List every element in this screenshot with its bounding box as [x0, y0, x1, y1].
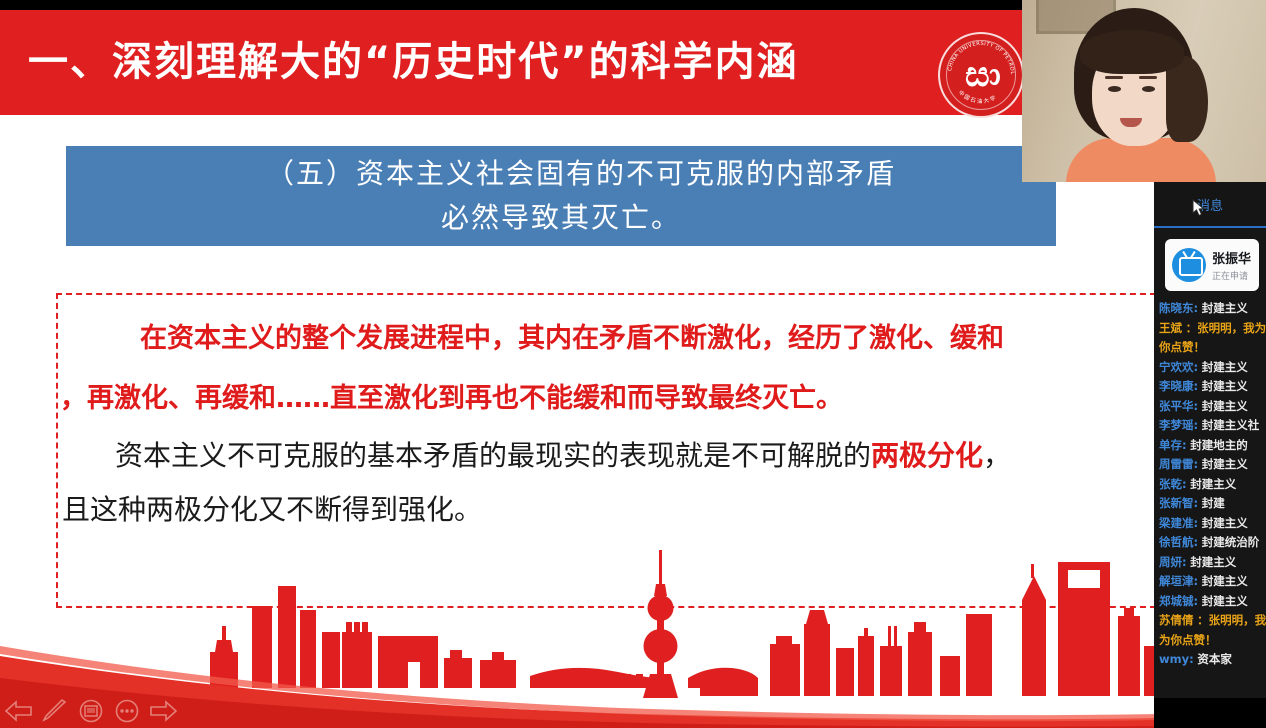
presenter-eyebrow-left — [1105, 76, 1123, 79]
join-request-notification[interactable]: 张振华 正在申请 — [1165, 239, 1259, 291]
chat-message-sender: 李梦瑶: — [1159, 418, 1198, 432]
chat-message-sender: 苏倩倩 — [1159, 613, 1194, 627]
ellipsis-icon[interactable] — [112, 698, 142, 724]
presenter-eye-right — [1142, 86, 1155, 92]
section-banner: （五）资本主义社会固有的不可克服的内部矛盾 必然导致其灭亡。 — [66, 146, 1056, 246]
chat-message-body: 封建主义 — [1202, 301, 1248, 315]
chat-message-body: 封建主义社 — [1202, 418, 1260, 432]
chat-message: wmy: 资本家 — [1159, 650, 1266, 670]
chat-message: 单存: 封建地主的 — [1159, 436, 1266, 456]
presenter-bangs — [1080, 30, 1184, 74]
chat-message-body: ：张明明，我 — [1197, 613, 1266, 627]
chat-message-sender: 张平华: — [1159, 399, 1198, 413]
chat-message-body: 封建主义 — [1202, 379, 1248, 393]
broadcast-play-triangle — [1187, 262, 1193, 270]
chat-message-body: 封建主义 — [1202, 516, 1248, 530]
chat-message-sender: 张新智: — [1159, 496, 1198, 510]
chat-message-body: 封建主义 — [1202, 594, 1248, 608]
chat-message: 李晓康: 封建主义 — [1159, 377, 1266, 397]
chat-message-sender: 宁欢欢: — [1159, 360, 1198, 374]
chat-message: 张新智: 封建 — [1159, 494, 1266, 514]
chat-message-list[interactable]: 陈晓东: 封建主义王斌 ：张明明，我为你点赞！宁欢欢: 封建主义李晓康: 封建主… — [1154, 297, 1266, 670]
chat-message: 徐哲航: 封建统治阶 — [1159, 533, 1266, 553]
section-banner-line-1: （五）资本主义社会固有的不可克服的内部矛盾 — [226, 152, 896, 196]
arrow-left-icon[interactable] — [4, 698, 34, 724]
chat-message: 梁建准: 封建主义 — [1159, 514, 1266, 534]
chat-message-body: 封建 — [1202, 496, 1225, 510]
broadcast-icon — [1172, 248, 1206, 282]
presenter-webcam[interactable] — [1022, 0, 1266, 182]
powerpoint-presenter-toolbar[interactable] — [4, 698, 178, 724]
chat-message-sender: 李晓康: — [1159, 379, 1198, 393]
chat-message-sender: 周妍: — [1159, 555, 1187, 569]
body-text-line-4: 且这种两极分化又不断得到强化。 — [62, 488, 482, 528]
chat-message-body: 封建主义 — [1202, 399, 1248, 413]
chat-message: 张平华: 封建主义 — [1159, 397, 1266, 417]
pen-icon[interactable] — [40, 698, 70, 724]
chat-message-sender: 郑城铖: — [1159, 594, 1198, 608]
chat-message-sender: 王斌 — [1159, 321, 1182, 335]
screen: 一、深刻理解大的“历史时代”的科学内涵 CHINA UNIVERSITY OF … — [0, 0, 1266, 728]
chat-message-body: 封建主义 — [1190, 477, 1236, 491]
body-text-line-3: 资本主义不可克服的基本矛盾的最现实的表现就是不可解脱的两极分化， — [115, 434, 1011, 474]
line3-highlight: 两极分化 — [871, 439, 983, 472]
chat-message: 周雷雷: 封建主义 — [1159, 455, 1266, 475]
chat-panel[interactable]: 消息 张振华 正在申请 陈晓东: 封建主义王斌 ：张明明，我为你点赞！宁欢欢: … — [1154, 182, 1266, 698]
chat-message-sender: 陈晓东: — [1159, 301, 1198, 315]
chat-message: 解垣津: 封建主义 — [1159, 572, 1266, 592]
chat-message-sender: 张乾: — [1159, 477, 1187, 491]
chat-message-sender: 徐哲航: — [1159, 535, 1198, 549]
chat-message-body: ：张明明，我为 — [1186, 321, 1266, 335]
chat-message: 陈晓东: 封建主义 — [1159, 299, 1266, 319]
chat-message-sender: wmy: — [1159, 652, 1194, 666]
presentation-slide: 一、深刻理解大的“历史时代”的科学内涵 CHINA UNIVERSITY OF … — [0, 10, 1160, 728]
chat-message-body: 封建地主的 — [1190, 438, 1248, 452]
chat-message-sender: 周雷雷: — [1159, 457, 1198, 471]
slide-header-title: 一、深刻理解大的“历史时代”的科学内涵 — [28, 32, 908, 92]
chat-message: 苏倩倩 ：张明明，我 — [1159, 611, 1266, 631]
section-banner-line-2: 必然导致其灭亡。 — [441, 196, 681, 240]
chat-bottom-filler — [1154, 698, 1266, 728]
chat-message: 周妍: 封建主义 — [1159, 553, 1266, 573]
mouse-cursor-icon — [1192, 199, 1206, 217]
notification-user-name: 张振华 — [1212, 248, 1251, 267]
chat-message: 李梦瑶: 封建主义社 — [1159, 416, 1266, 436]
line3-pre: 资本主义不可克服的基本矛盾的最现实的表现就是不可解脱的 — [115, 439, 871, 472]
presenter-eyebrow-right — [1139, 76, 1157, 79]
chat-message-sender: 单存: — [1159, 438, 1187, 452]
chat-message-sender: 梁建准: — [1159, 516, 1198, 530]
chat-message-body: 封建主义 — [1202, 457, 1248, 471]
chat-message-body: 封建主义 — [1202, 574, 1248, 588]
chat-message: 宁欢欢: 封建主义 — [1159, 358, 1266, 378]
chat-message: 郑城铖: 封建主义 — [1159, 592, 1266, 612]
seal-monogram: සා — [965, 58, 997, 92]
chat-message-body: 资本家 — [1197, 652, 1232, 666]
chat-panel-header[interactable]: 消息 — [1154, 182, 1266, 228]
top-black-bar — [0, 0, 1160, 10]
chat-message: 你点赞！ — [1159, 338, 1266, 358]
chat-message-sender: 解垣津: — [1159, 574, 1198, 588]
slide-icon[interactable] — [76, 698, 106, 724]
presenter-eye-left — [1108, 86, 1121, 92]
university-seal-logo: CHINA UNIVERSITY OF PETROLEUM 中国石油大学 සා — [938, 32, 1024, 118]
chat-message-body: 封建统治阶 — [1202, 535, 1260, 549]
chat-message-body: 封建主义 — [1190, 555, 1236, 569]
chat-message-body: 为你点赞！ — [1159, 633, 1217, 647]
notification-status: 正在申请 — [1212, 269, 1251, 282]
arrow-right-icon[interactable] — [148, 698, 178, 724]
line3-post: ， — [983, 439, 1011, 472]
body-text-line-2: ，再激化、再缓和……直至激化到再也不能缓和而导致最终灭亡。 — [60, 376, 843, 415]
chat-message-body: 封建主义 — [1202, 360, 1248, 374]
body-text-line-1: 在资本主义的整个发展进程中，其内在矛盾不断激化，经历了激化、缓和 — [140, 316, 1004, 355]
chat-message: 王斌 ：张明明，我为 — [1159, 319, 1266, 339]
chat-message: 为你点赞！ — [1159, 631, 1266, 651]
chat-message: 张乾: 封建主义 — [1159, 475, 1266, 495]
chat-message-body: 你点赞！ — [1159, 340, 1205, 354]
notification-text: 张振华 正在申请 — [1212, 248, 1251, 282]
